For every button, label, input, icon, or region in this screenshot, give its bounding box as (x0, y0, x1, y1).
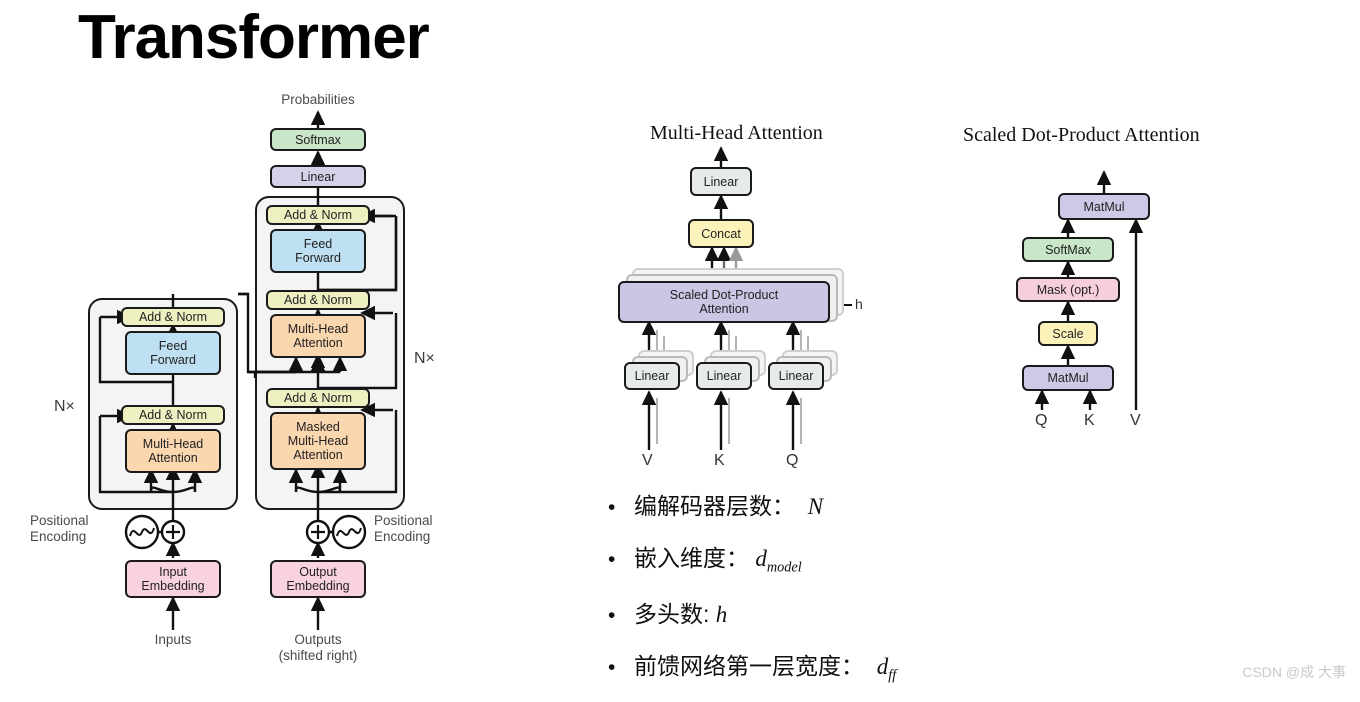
bullet-text: 嵌入维度： (634, 539, 755, 573)
label-outputs: Outputs (shifted right) (258, 632, 378, 663)
box-sdpa-softmax: SoftMax (1022, 237, 1114, 262)
box-output-embedding: Output Embedding (270, 560, 366, 598)
box-softmax: Softmax (270, 128, 366, 151)
bullet-dot-icon: • (608, 605, 634, 626)
box-encoder-add-norm-top: Add & Norm (121, 307, 225, 327)
positional-encoding-sine-right (333, 516, 365, 548)
box-decoder-add-norm-mid: Add & Norm (266, 290, 370, 310)
slide-root: Transformer Probabilities (0, 0, 1360, 690)
label-mha-k: K (714, 452, 725, 470)
bullet-text: 前馈网络第一层宽度： (634, 647, 877, 681)
box-decoder-add-norm-bottom: Add & Norm (266, 388, 370, 408)
bullet-item: •嵌入维度： dmodel (608, 539, 1148, 577)
box-decoder-multi-head-attention: Multi-Head Attention (270, 314, 366, 358)
box-sdpa-matmul-bottom: MatMul (1022, 365, 1114, 391)
bullet-math: dmodel (755, 546, 801, 577)
bullet-list: •编解码器层数： N•嵌入维度： dmodel•多头数: h•前馈网络第一层宽度… (608, 487, 1148, 702)
box-sdpa-scale: Scale (1038, 321, 1098, 346)
label-mha-q: Q (786, 452, 798, 470)
label-positional-encoding-right: Positional Encoding (374, 513, 474, 544)
box-mha-linear-k: Linear (696, 362, 752, 390)
positional-encoding-sine-left (126, 516, 158, 548)
box-mha-linear-top: Linear (690, 167, 752, 196)
multi-head-attention-title: Multi-Head Attention (650, 122, 823, 145)
bullet-dot-icon: • (608, 657, 634, 678)
label-mha-h: h (855, 296, 863, 312)
box-mha-concat: Concat (688, 219, 754, 248)
label-nx-left: N× (54, 398, 75, 416)
bullet-dot-icon: • (608, 497, 634, 518)
plus-circle-left (162, 521, 184, 543)
scaled-dot-product-attention-title: Scaled Dot-Product Attention (963, 124, 1200, 147)
box-encoder-add-norm-bottom: Add & Norm (121, 405, 225, 425)
box-linear: Linear (270, 165, 366, 188)
box-input-embedding: Input Embedding (125, 560, 221, 598)
bullet-item: •多头数: h (608, 595, 1148, 629)
bullet-dot-icon: • (608, 549, 634, 570)
box-mha-linear-q: Linear (768, 362, 824, 390)
box-decoder-feed-forward: Feed Forward (270, 229, 366, 273)
bullet-text: 多头数: (634, 595, 716, 629)
box-encoder-feed-forward: Feed Forward (125, 331, 221, 375)
label-nx-right: N× (414, 350, 435, 368)
box-sdpa-mask: Mask (opt.) (1016, 277, 1120, 302)
bullet-item: •编解码器层数： N (608, 487, 1148, 521)
box-mha-linear-v: Linear (624, 362, 680, 390)
label-sdpa-q: Q (1035, 412, 1047, 430)
label-positional-encoding-left: Positional Encoding (30, 513, 126, 544)
page-title: Transformer (78, 4, 429, 72)
box-encoder-multi-head-attention: Multi-Head Attention (125, 429, 221, 473)
bullet-item: •前馈网络第一层宽度： dff (608, 647, 1148, 685)
label-sdpa-v: V (1130, 412, 1141, 430)
box-decoder-masked-multi-head-attention: Masked Multi-Head Attention (270, 412, 366, 470)
box-decoder-add-norm-top: Add & Norm (266, 205, 370, 225)
box-sdpa-matmul-top: MatMul (1058, 193, 1150, 220)
label-mha-v: V (642, 452, 653, 470)
plus-circle-right (307, 521, 329, 543)
label-sdpa-k: K (1084, 412, 1095, 430)
box-mha-scaled-dot-product-attention: Scaled Dot-Product Attention (618, 281, 830, 323)
bullet-math: h (716, 602, 728, 628)
encoder-panel (88, 298, 238, 510)
label-inputs: Inputs (123, 632, 223, 648)
bullet-math: dff (877, 654, 896, 685)
bullet-text: 编解码器层数： (634, 487, 808, 521)
watermark: CSDN @成 大事 (1242, 662, 1346, 682)
label-probabilities: Probabilities (258, 92, 378, 108)
bullet-math: N (808, 494, 823, 520)
